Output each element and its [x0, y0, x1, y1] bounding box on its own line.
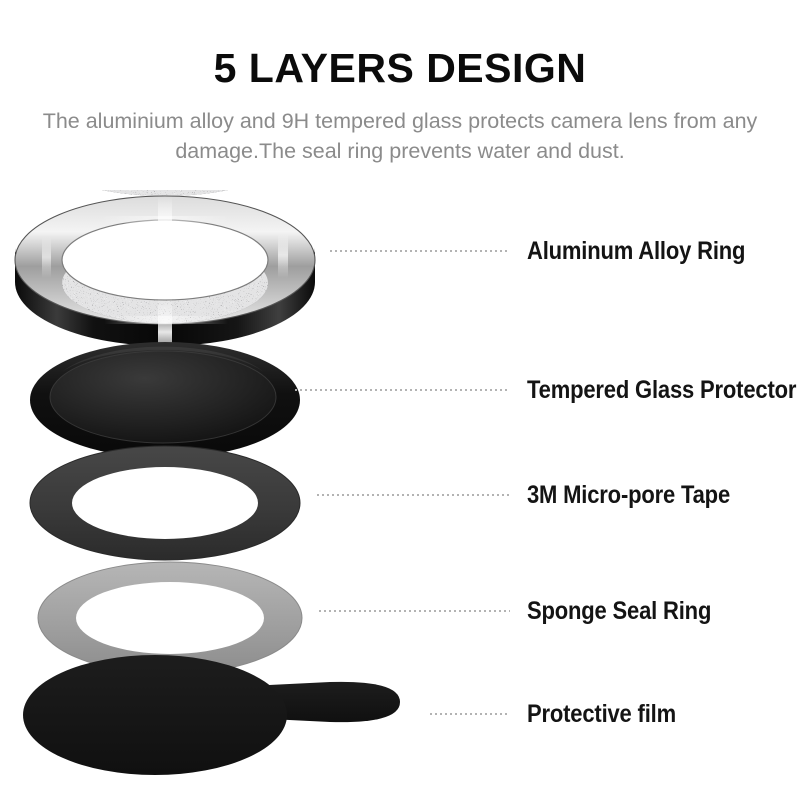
layer-3m-micro-pore-tape — [30, 446, 300, 560]
leader-line-tempered-glass-protector — [295, 389, 510, 391]
leader-line-protective-film — [430, 713, 510, 715]
leader-line-aluminum-alloy-ring — [330, 250, 510, 252]
layer-protective-film — [23, 655, 400, 775]
label-3m-micro-pore-tape: 3M Micro-pore Tape — [527, 481, 730, 510]
sparkle-flare-left — [42, 236, 51, 278]
label-protective-film: Protective film — [527, 700, 676, 729]
sparkle-flare-bottom-h — [104, 316, 228, 324]
label-tempered-glass-protector: Tempered Glass Protector — [527, 376, 796, 405]
layer-aluminum-alloy-ring — [10, 190, 320, 368]
tape-ring-body — [30, 446, 300, 560]
sparkle-flare-right — [278, 232, 288, 278]
sparkle-flare-top — [158, 196, 172, 256]
leader-line-3m-micro-pore-tape — [317, 494, 510, 496]
layer-tempered-glass-protector — [30, 342, 300, 458]
label-sponge-seal-ring: Sponge Seal Ring — [527, 597, 711, 626]
glass-inner-surface — [50, 351, 276, 443]
leader-line-sponge-seal-ring — [319, 610, 510, 612]
sparkle-flare-top-h — [100, 216, 230, 223]
film-disc — [23, 655, 287, 775]
label-aluminum-alloy-ring: Aluminum Alloy Ring — [527, 237, 745, 266]
